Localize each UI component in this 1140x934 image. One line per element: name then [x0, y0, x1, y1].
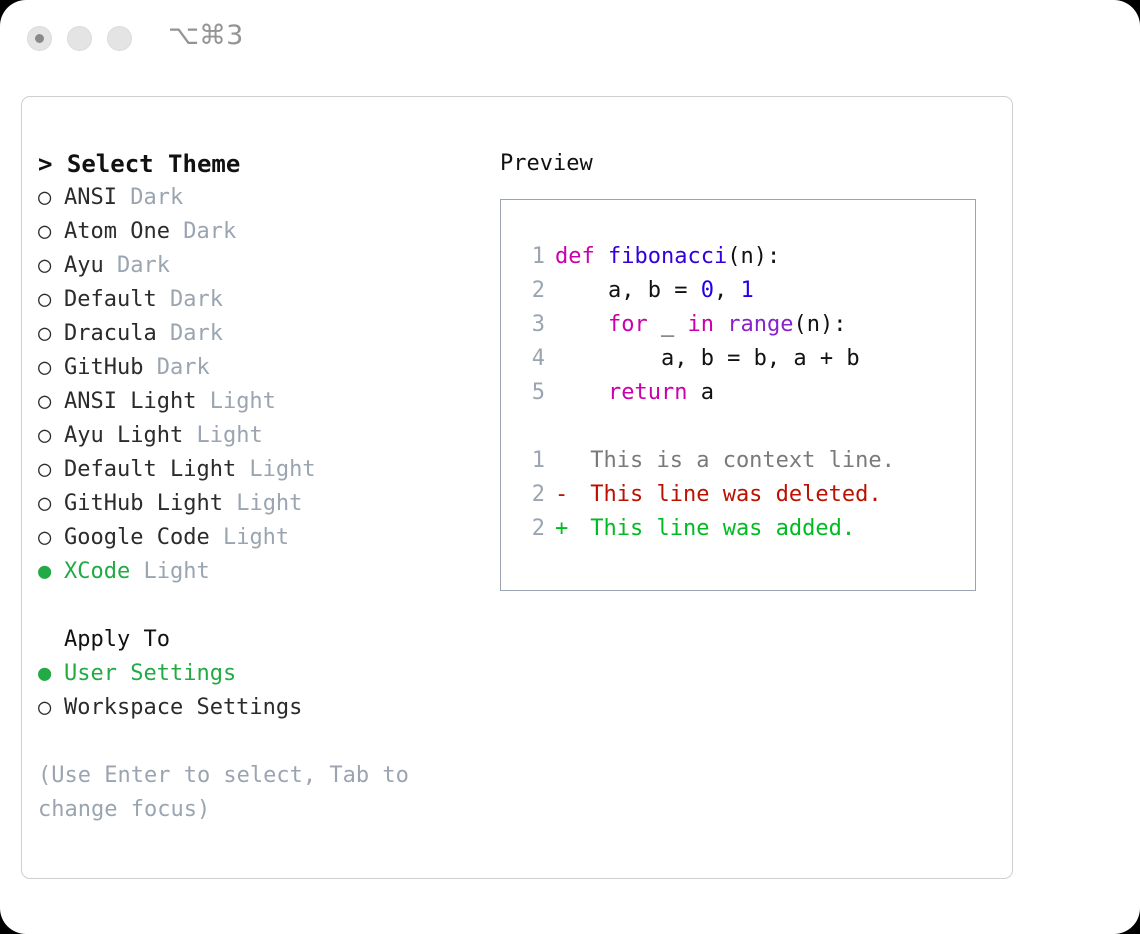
diff-sample: 1 This is a context line.2- This line wa…: [519, 444, 975, 546]
code-token-pl: ,: [714, 278, 741, 303]
theme-option-xcode[interactable]: ●XCode Light: [38, 555, 478, 589]
diff-line-number: 2: [519, 512, 545, 546]
preview-box: 1def fibonacci(n):2 a, b = 0, 13 for _ i…: [500, 199, 976, 591]
content-panel: > Select Theme ○ANSI Dark○Atom One Dark○…: [21, 96, 1013, 879]
radio-unselected-icon: ○: [38, 521, 64, 555]
code-token-kw: def: [555, 244, 608, 269]
theme-variant-tag: Dark: [170, 219, 236, 244]
code-line: 4 a, b = b, a + b: [519, 342, 975, 376]
code-line-number: 2: [519, 274, 545, 308]
code-token-pl: a, b = b, a + b: [555, 346, 860, 371]
diff-line-add: 2+ This line was added.: [519, 512, 975, 546]
radio-unselected-icon: ○: [38, 283, 64, 317]
code-token-pl: [555, 312, 608, 337]
radio-unselected-icon: ○: [38, 487, 64, 521]
code-token-pl: (n):: [727, 244, 780, 269]
radio-unselected-icon: ○: [38, 453, 64, 487]
code-line-number: 3: [519, 308, 545, 342]
theme-option-label: XCode: [64, 559, 130, 584]
theme-variant-tag: Dark: [143, 355, 209, 380]
code-line: 1def fibonacci(n):: [519, 240, 975, 274]
diff-line-ctx: 1 This is a context line.: [519, 444, 975, 478]
code-token-kw: in: [687, 312, 714, 337]
select-theme-header: > Select Theme: [38, 147, 478, 181]
diff-line-text: This is a context line.: [577, 448, 895, 473]
radio-unselected-icon: ○: [38, 181, 64, 215]
diff-line-del: 2- This line was deleted.: [519, 478, 975, 512]
theme-variant-tag: Light: [210, 525, 289, 550]
theme-option-ayu[interactable]: ○Ayu Dark: [38, 249, 478, 283]
keyboard-shortcut-label: ⌥⌘3: [168, 20, 243, 51]
code-token-pl: _: [648, 312, 688, 337]
radio-unselected-icon: ○: [38, 691, 64, 725]
title-bar: ⌥⌘3: [0, 0, 1140, 78]
theme-option-label: Default: [64, 287, 157, 312]
radio-unselected-icon: ○: [38, 317, 64, 351]
theme-variant-tag: Light: [183, 423, 262, 448]
theme-option-github[interactable]: ○GitHub Dark: [38, 351, 478, 385]
keyboard-hint-text: (Use Enter to select, Tab to change focu…: [38, 759, 438, 827]
code-token-pl: a: [687, 380, 714, 405]
theme-option-label: ANSI: [64, 185, 117, 210]
radio-unselected-icon: ○: [38, 249, 64, 283]
theme-variant-tag: Dark: [104, 253, 170, 278]
window-dot-third[interactable]: [107, 26, 132, 51]
code-token-num: 1: [740, 278, 753, 303]
theme-option-atom-one[interactable]: ○Atom One Dark: [38, 215, 478, 249]
window-dot-second[interactable]: [67, 26, 92, 51]
theme-variant-tag: Dark: [117, 185, 183, 210]
radio-unselected-icon: ○: [38, 385, 64, 419]
diff-line-text: This line was deleted.: [577, 482, 882, 507]
theme-list: ○ANSI Dark○Atom One Dark○Ayu Dark○Defaul…: [38, 181, 478, 589]
apply-to-option-label: Workspace Settings: [64, 695, 302, 720]
theme-option-default-light[interactable]: ○Default Light Light: [38, 453, 478, 487]
diff-line-number: 2: [519, 478, 545, 512]
code-line-number: 4: [519, 342, 545, 376]
diff-marker: [555, 444, 577, 478]
code-token-kw: return: [608, 380, 687, 405]
diff-line-text: This line was added.: [577, 516, 855, 541]
code-token-fn: fibonacci: [608, 244, 727, 269]
theme-option-label: Ayu Light: [64, 423, 183, 448]
window-dot-active[interactable]: [27, 26, 52, 51]
active-dot-indicator: [35, 34, 44, 43]
radio-selected-icon: ●: [38, 555, 64, 589]
code-spacer: [519, 410, 975, 444]
apply-to-option-user-settings[interactable]: ●User Settings: [38, 657, 478, 691]
theme-option-label: Atom One: [64, 219, 170, 244]
theme-option-default[interactable]: ○Default Dark: [38, 283, 478, 317]
theme-selector-column: > Select Theme ○ANSI Dark○Atom One Dark○…: [38, 147, 478, 827]
code-token-bi: range: [727, 312, 793, 337]
theme-option-label: Google Code: [64, 525, 210, 550]
theme-variant-tag: Light: [223, 491, 302, 516]
theme-variant-tag: Dark: [157, 287, 223, 312]
code-line: 2 a, b = 0, 1: [519, 274, 975, 308]
apply-to-label: Apply To: [38, 623, 478, 657]
code-line: 5 return a: [519, 376, 975, 410]
theme-option-label: Dracula: [64, 321, 157, 346]
code-sample: 1def fibonacci(n):2 a, b = 0, 13 for _ i…: [519, 240, 975, 410]
theme-option-ansi-light[interactable]: ○ANSI Light Light: [38, 385, 478, 419]
code-token-pl: (n):: [793, 312, 846, 337]
app-window: ⌥⌘3 > Select Theme ○ANSI Dark○Atom One D…: [0, 0, 1140, 934]
preview-column: Preview 1def fibonacci(n):2 a, b = 0, 13…: [500, 147, 990, 591]
code-token-num: 0: [701, 278, 714, 303]
apply-to-option-label: User Settings: [64, 661, 236, 686]
code-token-pl: a, b =: [555, 278, 701, 303]
theme-option-label: Ayu: [64, 253, 104, 278]
apply-to-option-workspace-settings[interactable]: ○Workspace Settings: [38, 691, 478, 725]
code-line-number: 1: [519, 240, 545, 274]
radio-unselected-icon: ○: [38, 419, 64, 453]
theme-option-label: Default Light: [64, 457, 236, 482]
radio-selected-icon: ●: [38, 657, 64, 691]
code-token-kw: for: [608, 312, 648, 337]
diff-marker: -: [555, 478, 577, 512]
code-token-pl: [714, 312, 727, 337]
theme-option-dracula[interactable]: ○Dracula Dark: [38, 317, 478, 351]
theme-variant-tag: Light: [236, 457, 315, 482]
theme-option-label: ANSI Light: [64, 389, 196, 414]
theme-option-ayu-light[interactable]: ○Ayu Light Light: [38, 419, 478, 453]
theme-option-github-light[interactable]: ○GitHub Light Light: [38, 487, 478, 521]
theme-option-label: GitHub Light: [64, 491, 223, 516]
apply-to-list: ●User Settings○Workspace Settings: [38, 657, 478, 725]
theme-option-label: GitHub: [64, 355, 143, 380]
theme-option-ansi[interactable]: ○ANSI Dark: [38, 181, 478, 215]
code-line-number: 5: [519, 376, 545, 410]
preview-title: Preview: [500, 147, 990, 181]
theme-option-google-code[interactable]: ○Google Code Light: [38, 521, 478, 555]
theme-variant-tag: Dark: [157, 321, 223, 346]
code-token-pl: [555, 380, 608, 405]
theme-variant-tag: Light: [196, 389, 275, 414]
radio-unselected-icon: ○: [38, 215, 64, 249]
diff-marker: +: [555, 512, 577, 546]
code-line: 3 for _ in range(n):: [519, 308, 975, 342]
theme-variant-tag: Light: [130, 559, 209, 584]
diff-line-number: 1: [519, 444, 545, 478]
radio-unselected-icon: ○: [38, 351, 64, 385]
